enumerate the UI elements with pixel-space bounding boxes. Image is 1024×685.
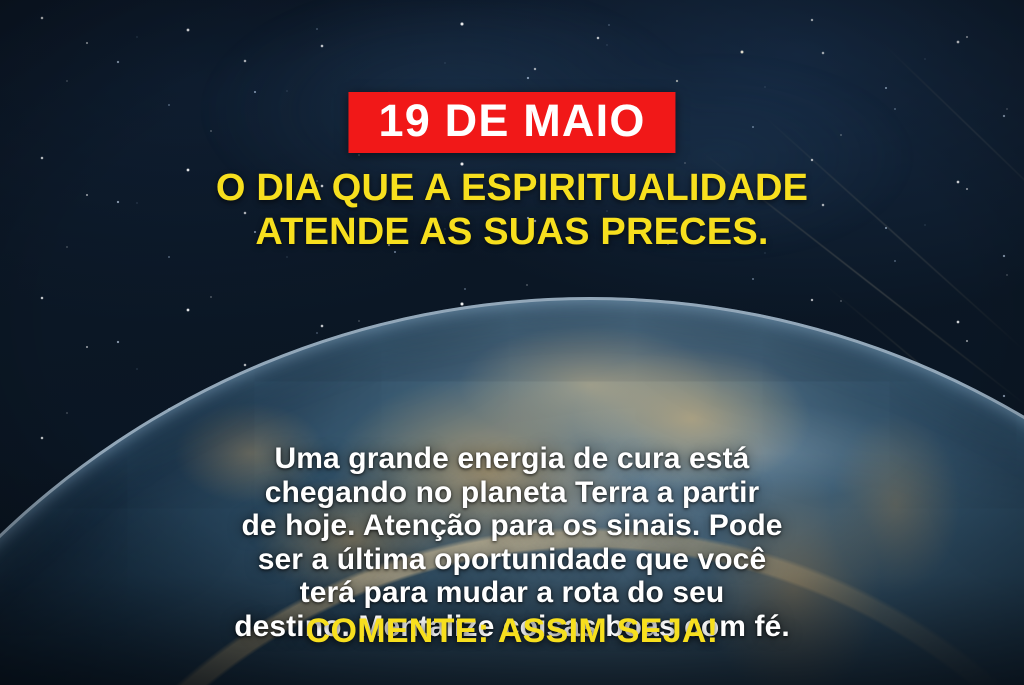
body-line: ser a última oportunidade que você (52, 543, 972, 577)
date-badge: 19 DE MAIO (348, 92, 675, 153)
headline-line-2: ATENDE AS SUAS PRECES. (44, 210, 980, 254)
body-line: terá para mudar a rota do seu (52, 576, 972, 610)
poster-canvas: 19 DE MAIO O DIA QUE A ESPIRITUALIDADE A… (0, 0, 1024, 685)
call-to-action-text: COMENTE: ASSIM SEJA! (0, 613, 1024, 650)
body-line: chegando no planeta Terra a partir (52, 476, 972, 510)
headline: O DIA QUE A ESPIRITUALIDADE ATENDE AS SU… (0, 166, 1024, 254)
body-line: Uma grande energia de cura está (52, 442, 972, 476)
poster-content: 19 DE MAIO O DIA QUE A ESPIRITUALIDADE A… (0, 0, 1024, 685)
headline-line-1: O DIA QUE A ESPIRITUALIDADE (44, 166, 980, 210)
body-line: de hoje. Atenção para os sinais. Pode (52, 509, 972, 543)
